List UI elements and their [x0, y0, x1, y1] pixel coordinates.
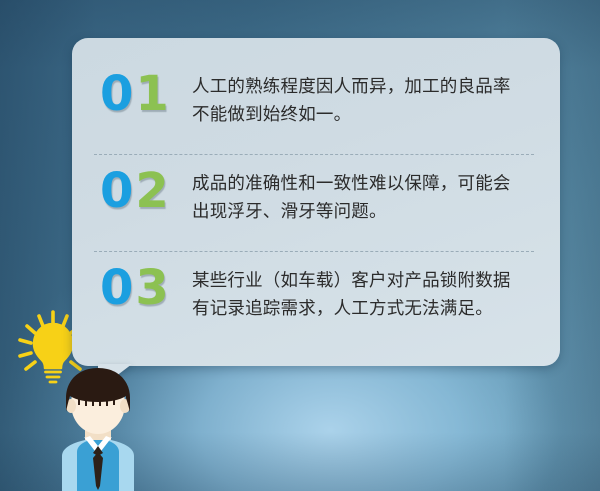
list-item[interactable]: 02 成品的准确性和一致性难以保障，可能会 出现浮牙、滑牙等问题。: [94, 154, 534, 251]
digit-second: 2: [135, 163, 170, 219]
item-text-01: 人工的熟练程度因人而异，加工的良品率 不能做到始终如一。: [192, 64, 534, 130]
item-text-02: 成品的准确性和一致性难以保障，可能会 出现浮牙、滑牙等问题。: [192, 161, 534, 227]
digit-first: 0: [100, 66, 135, 122]
item-text-line: 不能做到始终如一。: [192, 101, 534, 129]
digit-second: 1: [135, 66, 170, 122]
digit-first: 0: [100, 260, 135, 316]
digit-first: 0: [100, 163, 135, 219]
item-text-line: 有记录追踪需求，人工方式无法满足。: [192, 295, 534, 323]
speech-bubble: 01 人工的熟练程度因人而异，加工的良品率 不能做到始终如一。 02 成品的准确…: [72, 38, 560, 366]
item-number-03: 03: [94, 258, 192, 313]
item-number-01: 01: [94, 64, 192, 119]
bullet-list: 01 人工的熟练程度因人而异，加工的良品率 不能做到始终如一。 02 成品的准确…: [72, 38, 560, 366]
item-text-line: 出现浮牙、滑牙等问题。: [192, 198, 534, 226]
digit-second: 3: [135, 260, 170, 316]
list-item[interactable]: 01 人工的熟练程度因人而异，加工的良品率 不能做到始终如一。: [94, 58, 534, 154]
infographic-canvas: 01 人工的熟练程度因人而异，加工的良品率 不能做到始终如一。 02 成品的准确…: [0, 0, 600, 491]
person-avatar-icon: [28, 368, 168, 491]
item-text-03: 某些行业（如车载）客户对产品锁附数据 有记录追踪需求，人工方式无法满足。: [192, 258, 534, 324]
list-item[interactable]: 03 某些行业（如车载）客户对产品锁附数据 有记录追踪需求，人工方式无法满足。: [94, 251, 534, 348]
item-text-line: 人工的熟练程度因人而异，加工的良品率: [192, 73, 534, 101]
item-text-line: 成品的准确性和一致性难以保障，可能会: [192, 170, 534, 198]
item-number-02: 02: [94, 161, 192, 216]
item-text-line: 某些行业（如车载）客户对产品锁附数据: [192, 267, 534, 295]
